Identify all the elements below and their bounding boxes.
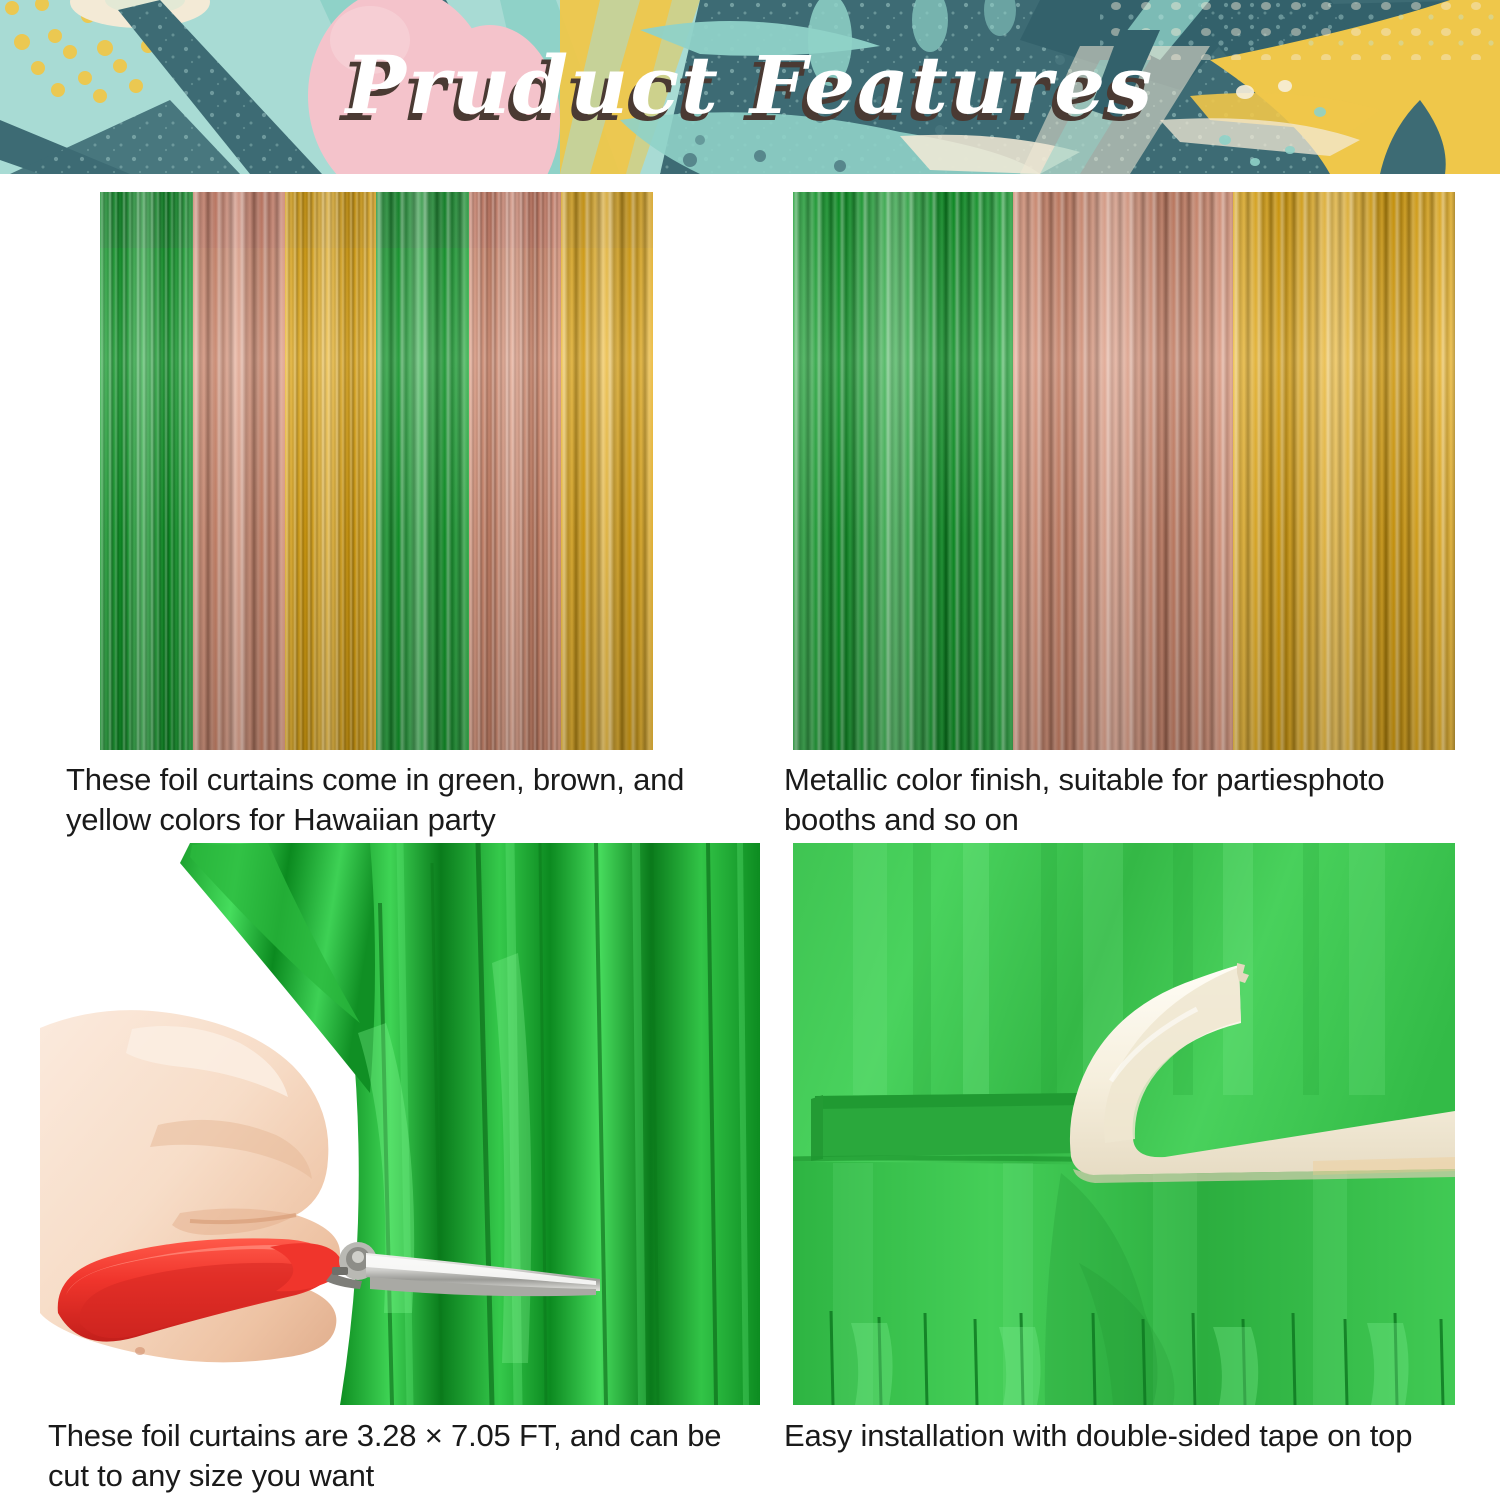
page-title: Pruduct Features [346, 38, 1154, 136]
stripe-shade [285, 192, 377, 750]
scissors-illustration [40, 843, 760, 1405]
stripe-gold-1 [285, 192, 377, 750]
stripe-shade [100, 192, 193, 750]
stripe-shade [1013, 192, 1233, 750]
stripe-rose-wide [1013, 192, 1233, 750]
caption-bottom-right: Easy installation with double-sided tape… [784, 1416, 1484, 1456]
image-hand-cutting-green-foil-with-scissors [40, 843, 760, 1405]
stripe-shade [376, 192, 469, 750]
image-foil-curtain-six-stripes [100, 192, 653, 750]
curtain-six-stripes [100, 192, 653, 750]
stripe-rose-2 [469, 192, 561, 750]
curtain-three-stripes [793, 192, 1455, 750]
image-green-foil-with-double-sided-tape [793, 843, 1455, 1405]
stripe-gold-wide [1233, 192, 1455, 750]
image-foil-curtain-three-stripes-closeup [793, 192, 1455, 750]
banner-title-wrap: Pruduct Features [0, 0, 1500, 174]
caption-top-left: These foil curtains come in green, brown… [66, 760, 706, 841]
stripe-green-1 [100, 192, 193, 750]
stripe-green-2 [376, 192, 469, 750]
stripe-rose-1 [193, 192, 285, 750]
stripe-shade [561, 192, 653, 750]
caption-top-right: Metallic color finish, suitable for part… [784, 760, 1474, 841]
stripe-shade [793, 192, 1013, 750]
stripe-shade [1233, 192, 1455, 750]
tape-illustration [793, 843, 1455, 1405]
stripe-shade [469, 192, 561, 750]
stripe-gold-2 [561, 192, 653, 750]
caption-bottom-left: These foil curtains are 3.28 × 7.05 FT, … [48, 1416, 728, 1497]
stripe-shade [193, 192, 285, 750]
header-banner: Pruduct Features [0, 0, 1500, 174]
stripe-green-wide [793, 192, 1013, 750]
